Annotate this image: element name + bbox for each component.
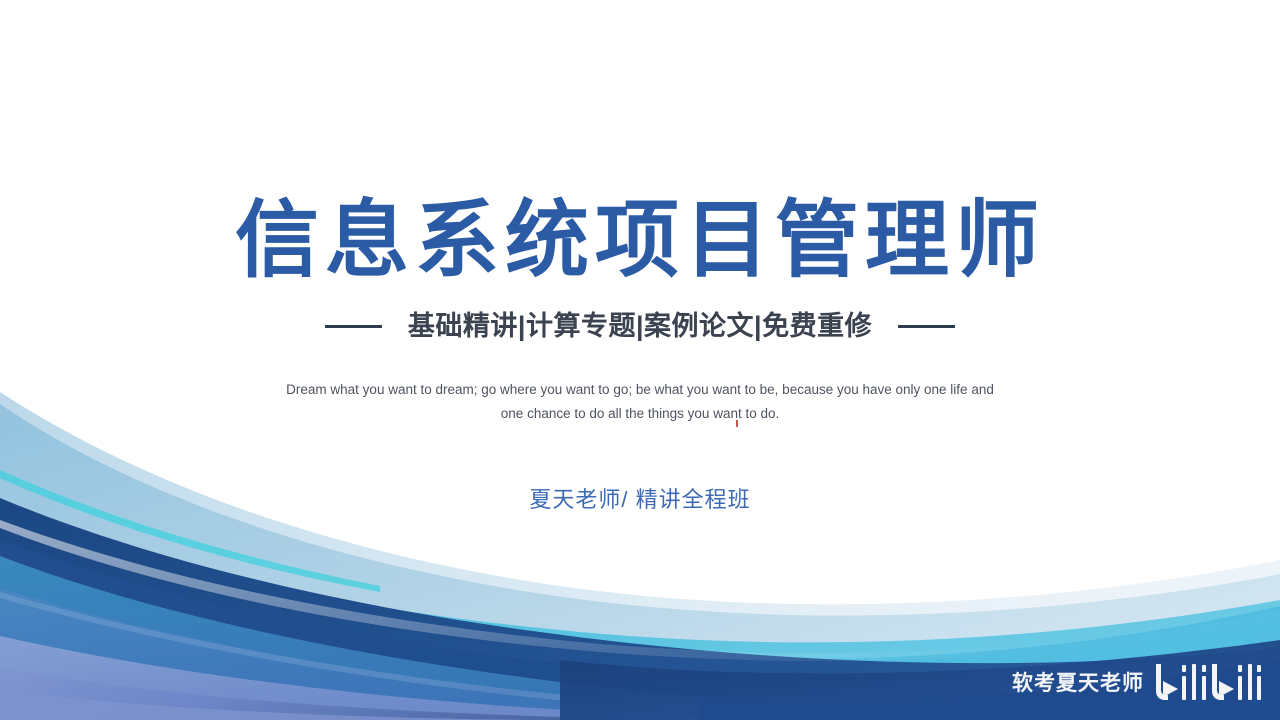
subtitle-text: 基础精讲|计算专题|案例论文|免费重修: [408, 309, 872, 343]
quote-line-2: chance to do all the things you want to …: [527, 406, 779, 421]
right-dash-decoration: [898, 325, 955, 328]
page-title: 信息系统项目管理师: [0, 192, 1280, 288]
watermark-text: 软考夏天老师: [1012, 667, 1144, 697]
author-line: 夏天老师/ 精讲全程班: [0, 485, 1280, 515]
bilibili-logo: [1154, 662, 1262, 702]
left-dash-decoration: [325, 325, 382, 328]
subtitle-row: 基础精讲|计算专题|案例论文|免费重修: [0, 309, 1280, 343]
presentation-slide: 信息系统项目管理师 基础精讲|计算专题|案例论文|免费重修 Dream what…: [0, 0, 1280, 720]
red-cursor-mark: [736, 420, 738, 427]
watermark: 软考夏天老师: [1012, 662, 1262, 702]
quote-block: Dream what you want to dream; go where y…: [278, 378, 1002, 426]
slide-content: 信息系统项目管理师 基础精讲|计算专题|案例论文|免费重修 Dream what…: [0, 0, 1280, 720]
